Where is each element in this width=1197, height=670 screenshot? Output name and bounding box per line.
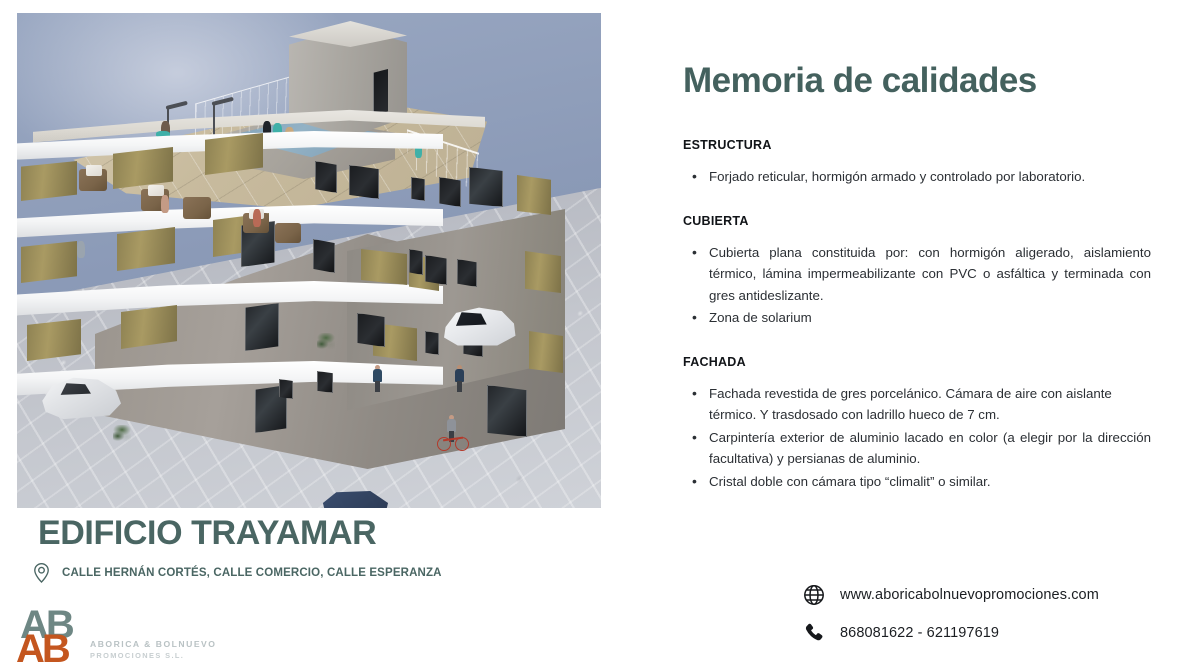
window — [409, 249, 423, 275]
facade-accent-panel — [361, 249, 407, 285]
phone-text: 868081622 - 621197619 — [840, 625, 999, 641]
section-heading-cubierta: CUBIERTA — [683, 214, 1151, 228]
specifications-body: ESTRUCTURA Forjado reticular, hormigón a… — [683, 138, 1151, 493]
facade-accent-panel — [525, 251, 561, 293]
pedestrian-legs — [457, 381, 462, 392]
balcony-person — [253, 209, 261, 227]
list-item: Fachada revestida de gres porcelánico. C… — [683, 383, 1151, 426]
window — [245, 303, 279, 351]
balcony-person — [161, 195, 169, 213]
bicycle-wheel — [455, 437, 469, 451]
logo-text: ABORICA & BOLNUEVO PROMOCIONES S.L. — [90, 639, 216, 669]
window — [349, 165, 379, 199]
bicycle — [437, 433, 469, 451]
list-item: Cristal doble con cámara tipo “climalit”… — [683, 471, 1151, 493]
window — [425, 255, 447, 285]
section-list-estructura: Forjado reticular, hormigón armado y con… — [683, 166, 1151, 188]
facade-accent-panel — [517, 175, 551, 215]
facade-accent-panel — [21, 161, 77, 201]
logo-company-type: PROMOCIONES S.L. — [90, 651, 216, 661]
phone-icon — [802, 621, 826, 645]
penthouse-door — [373, 69, 388, 117]
section-heading-fachada: FACHADA — [683, 355, 1151, 369]
logo-mark: AB AB — [18, 607, 84, 669]
globe-icon — [802, 583, 826, 607]
window — [425, 331, 439, 355]
window — [313, 239, 335, 273]
logo-mark-bottom: AB — [16, 629, 68, 669]
list-item: Forjado reticular, hormigón armado y con… — [683, 166, 1151, 188]
pedestrian-legs — [375, 381, 380, 392]
armchair-cushion — [86, 165, 102, 176]
window — [439, 177, 461, 207]
project-address: CALLE HERNÁN CORTÉS, CALLE COMERCIO, CAL… — [30, 561, 442, 584]
company-logo: AB AB ABORICA & BOLNUEVO PROMOCIONES S.L… — [18, 607, 216, 669]
left-column: EDIFICIO TRAYAMAR CALLE HERNÁN CORTÉS, C… — [0, 0, 640, 670]
window — [279, 379, 293, 399]
list-item: Cubierta plana constituida por: con horm… — [683, 242, 1151, 307]
balcony-armchair — [183, 197, 211, 219]
section-heading-estructura: ESTRUCTURA — [683, 138, 1151, 152]
facade-accent-panel — [529, 331, 563, 373]
page-title: Memoria de calidades — [683, 61, 1037, 101]
logo-company-name: ABORICA & BOLNUEVO — [90, 639, 216, 651]
balcony-plant — [113, 425, 131, 449]
balcony-person — [77, 241, 85, 258]
window — [357, 313, 385, 347]
window — [317, 371, 333, 393]
window — [315, 161, 337, 193]
contact-website-row[interactable]: www.aboricabolnuevopromociones.com — [802, 583, 1099, 607]
facade-accent-panel — [27, 319, 81, 361]
building-render-image — [17, 13, 601, 508]
facade-accent-panel — [21, 241, 77, 283]
right-column: Memoria de calidades ESTRUCTURA Forjado … — [640, 0, 1197, 670]
section-list-fachada: Fachada revestida de gres porcelánico. C… — [683, 383, 1151, 493]
contact-phone-row[interactable]: 868081622 - 621197619 — [802, 621, 1099, 645]
armchair-cushion — [148, 185, 164, 196]
list-item: Carpintería exterior de aluminio lacado … — [683, 427, 1151, 470]
brochure-page: EDIFICIO TRAYAMAR CALLE HERNÁN CORTÉS, C… — [0, 0, 1197, 670]
section-list-cubierta: Cubierta plana constituida por: con horm… — [683, 242, 1151, 329]
balcony-armchair — [275, 223, 301, 243]
window — [411, 177, 425, 201]
list-item: Zona de solarium — [683, 307, 1151, 329]
balcony-door — [487, 385, 527, 437]
project-title: EDIFICIO TRAYAMAR — [38, 514, 376, 553]
website-text: www.aboricabolnuevopromociones.com — [840, 587, 1099, 603]
contact-block: www.aboricabolnuevopromociones.com 86808… — [802, 583, 1099, 659]
address-text: CALLE HERNÁN CORTÉS, CALLE COMERCIO, CAL… — [62, 567, 442, 579]
window — [457, 259, 477, 287]
location-pin-icon — [30, 561, 53, 584]
balcony-door — [469, 167, 503, 207]
balcony-plant — [317, 333, 335, 357]
